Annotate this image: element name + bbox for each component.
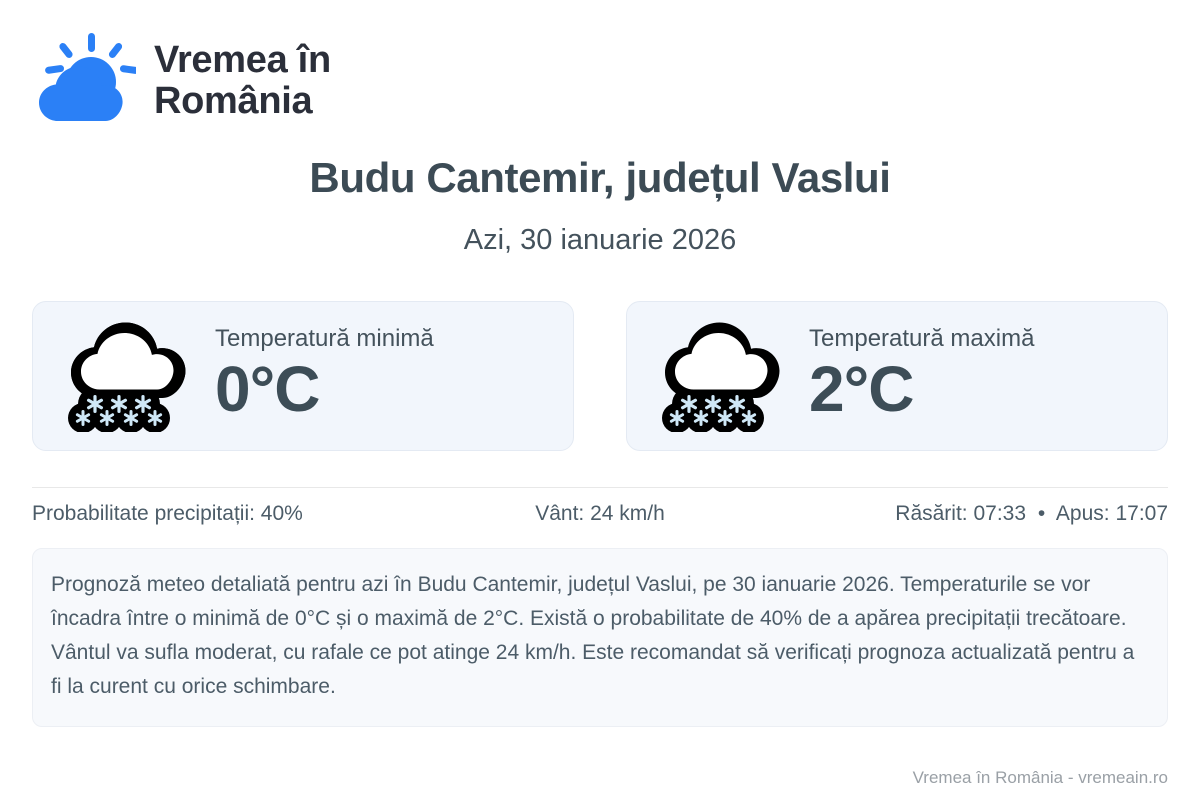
temperature-min-body: Temperatură minimă 0°C [215,326,434,426]
footer-credit: Vremea în România - vremeain.ro [913,768,1168,788]
brand-header: Vremea în România [32,0,1168,112]
temperature-cards: Temperatură minimă 0°C [32,301,1168,451]
brand-title: Vremea în România [154,40,331,122]
temperature-max-card: Temperatură maximă 2°C [626,301,1168,451]
temperature-max-value: 2°C [809,354,1034,426]
brand-line-2: România [154,81,331,122]
sunrise-value: Răsărit: 07:33 [895,502,1026,525]
temperature-max-label: Temperatură maximă [809,326,1034,352]
brand-line-1: Vremea în [154,40,331,81]
temperature-min-value: 0°C [215,354,434,426]
snow-cloud-icon [61,320,189,432]
wind-stat: Vânt: 24 km/h [411,502,790,526]
page-title: Budu Cantemir, județul Vaslui [32,154,1168,202]
precipitation-stat: Probabilitate precipitații: 40% [32,502,411,526]
sunset-value: Apus: 17:07 [1056,502,1168,525]
forecast-description: Prognoză meteo detaliată pentru azi în B… [32,548,1168,727]
temperature-max-body: Temperatură maximă 2°C [809,326,1034,426]
sun-stat: Răsărit: 07:33 • Apus: 17:07 [789,502,1168,526]
snow-cloud-icon [655,320,783,432]
temperature-min-card: Temperatură minimă 0°C [32,301,574,451]
sun-cloud-icon [32,31,136,131]
temperature-min-label: Temperatură minimă [215,326,434,352]
sun-separator: • [1032,502,1051,525]
weather-page: Vremea în România Budu Cantemir, județul… [0,0,1200,800]
page-subtitle: Azi, 30 ianuarie 2026 [32,224,1168,257]
stats-row: Probabilitate precipitații: 40% Vânt: 24… [32,488,1168,540]
